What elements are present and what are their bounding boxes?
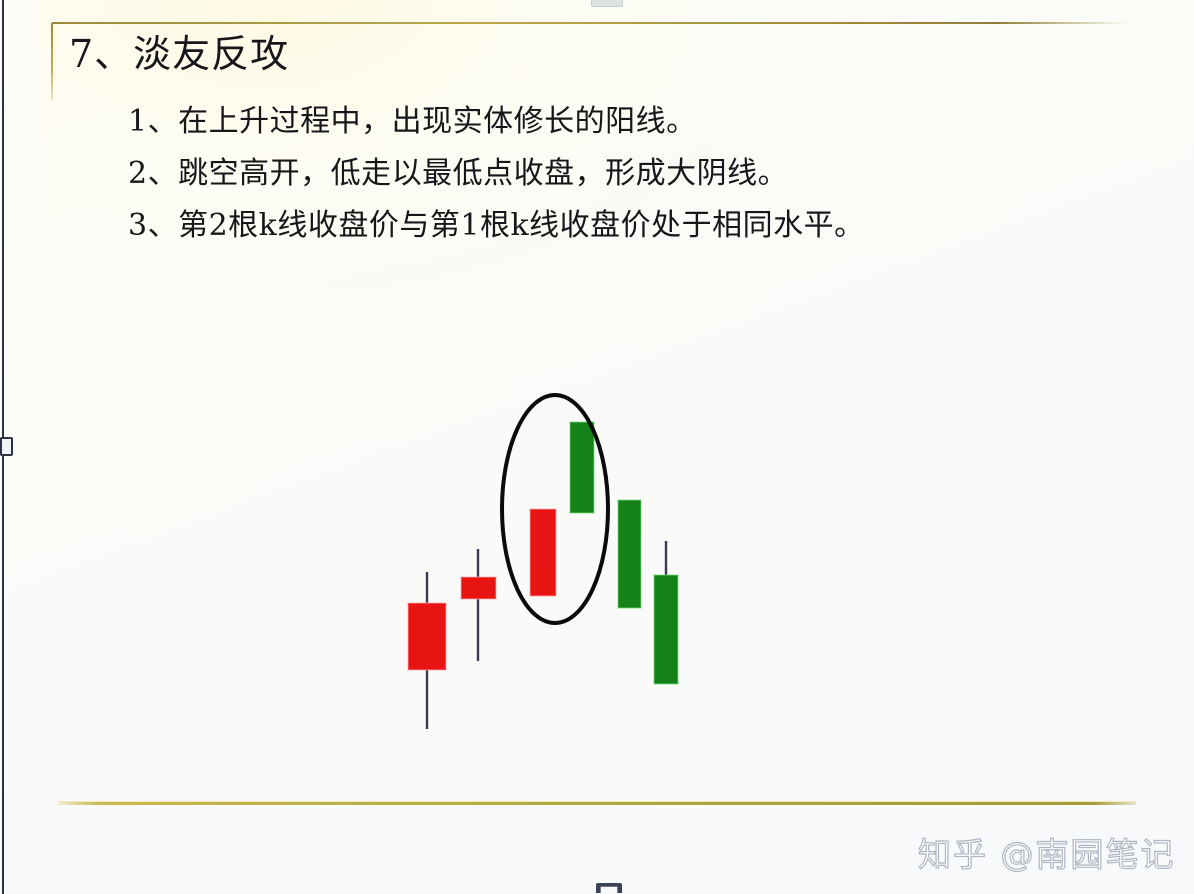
- candle-wick: [426, 572, 428, 729]
- candlestick-1: [408, 572, 446, 729]
- candlestick-2: [461, 549, 496, 661]
- list-item: 3、第2根k线收盘价与第1根k线收盘价处于相同水平。: [128, 200, 1128, 252]
- pattern-highlight-ellipse: [502, 395, 608, 623]
- highlight-ellipse: [502, 395, 608, 623]
- viewer-top-handle[interactable]: [591, 0, 623, 7]
- candle-body-bullish: [570, 422, 594, 513]
- list-item: 2、跳空高开，低走以最低点收盘，形成大阴线。: [128, 148, 1128, 200]
- candle-body-bearish: [461, 577, 496, 599]
- viewer-left-resize-handle[interactable]: [0, 437, 13, 456]
- frame-rule-bottom: [58, 801, 1136, 805]
- bullet-list: 1、在上升过程中，出现实体修长的阳线。 2、跳空高开，低走以最低点收盘，形成大阴…: [128, 96, 1128, 252]
- frame-rule-left: [51, 23, 53, 101]
- candle-wick: [665, 541, 667, 684]
- candle-wick: [477, 549, 479, 661]
- candle-body-bearish: [408, 603, 446, 670]
- page-title: 7、淡友反攻: [69, 33, 289, 77]
- frame-rule-top: [52, 22, 1128, 24]
- candle-body-bullish: [654, 575, 678, 684]
- candlestick-5: [618, 500, 641, 608]
- viewer-bottom-handle[interactable]: [596, 883, 622, 893]
- candles-group: [408, 422, 678, 729]
- candle-body-bearish: [530, 509, 556, 596]
- slide-canvas: 7、淡友反攻 1、在上升过程中，出现实体修长的阳线。 2、跳空高开，低走以最低点…: [0, 0, 1194, 894]
- candle-body-bullish: [618, 500, 641, 608]
- candlestick-6: [654, 541, 678, 684]
- candlestick-3: [530, 509, 556, 596]
- candlestick-4: [570, 422, 594, 513]
- watermark: 知乎 @南园笔记: [918, 828, 1176, 876]
- list-item: 1、在上升过程中，出现实体修长的阳线。: [128, 96, 1128, 148]
